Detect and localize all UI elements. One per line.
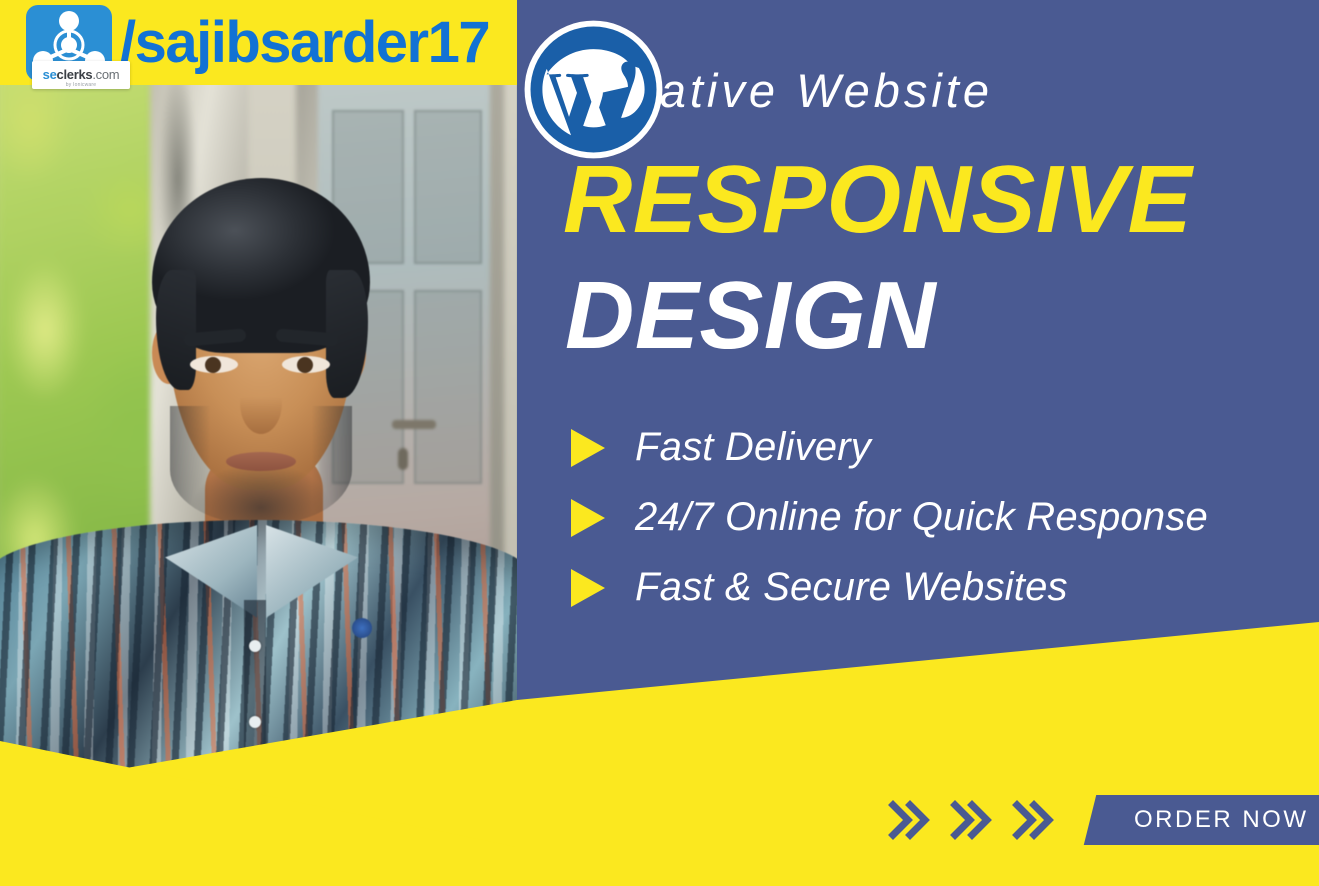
- cta-row: ORDER NOW: [888, 795, 1319, 845]
- feature-item: 24/7 Online for Quick Response: [567, 482, 1297, 552]
- feature-item: Fast & Secure Websites: [567, 552, 1297, 622]
- promo-banner-canvas: Creative Website RESPONSIVE DESIGN Fast …: [0, 0, 1319, 886]
- feature-list: Fast Delivery 24/7 Online for Quick Resp…: [567, 412, 1297, 622]
- double-chevron-right-icon: [1012, 798, 1054, 842]
- seoclerks-wordmark-text: seclerks.com: [43, 67, 120, 82]
- feature-label: 24/7 Online for Quick Response: [635, 495, 1208, 540]
- photo-eye-left: [190, 356, 238, 373]
- triangle-bullet-icon: [567, 426, 609, 468]
- photo-mouth: [226, 452, 296, 471]
- feature-item: Fast Delivery: [567, 412, 1297, 482]
- seoclerks-logo: seclerks.com by Ionicware: [26, 5, 112, 81]
- headline-design: DESIGN: [565, 268, 936, 364]
- feature-label: Fast & Secure Websites: [635, 565, 1068, 610]
- feature-label: Fast Delivery: [635, 425, 871, 470]
- seoclerks-wordmark: seclerks.com by Ionicware: [32, 61, 130, 89]
- headline-responsive: RESPONSIVE: [563, 152, 1192, 248]
- wordpress-logo-icon: [521, 17, 666, 162]
- photo-hair: [152, 178, 370, 353]
- triangle-bullet-icon: [567, 496, 609, 538]
- triangle-bullet-icon: [567, 566, 609, 608]
- double-chevron-right-icon: [950, 798, 992, 842]
- order-now-label: ORDER NOW: [1134, 806, 1309, 834]
- seoclerks-handle-banner: seclerks.com by Ionicware /sajibsarder17: [0, 0, 517, 85]
- photo-eye-right: [282, 356, 330, 373]
- double-chevron-right-icon: [888, 798, 930, 842]
- seoclerks-wordmark-sub: by Ionicware: [32, 82, 130, 88]
- seller-handle: /sajibsarder17: [120, 14, 489, 72]
- photo-shirt-button: [249, 716, 261, 728]
- photo-shirt-button: [249, 640, 261, 652]
- photo-shirt-badge: [352, 618, 372, 638]
- order-now-button[interactable]: ORDER NOW: [1084, 795, 1319, 845]
